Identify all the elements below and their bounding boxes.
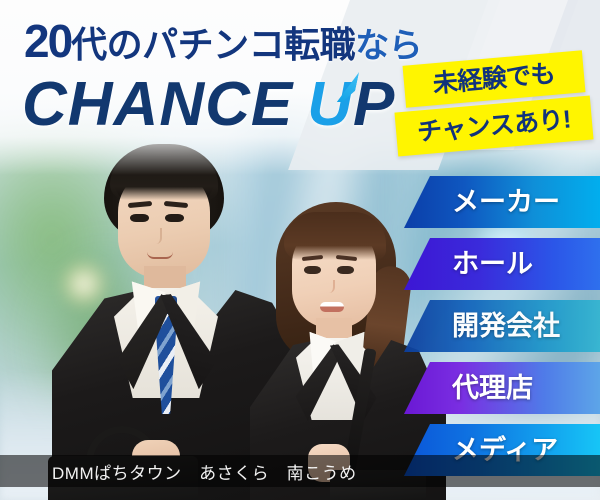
people-photo bbox=[0, 140, 420, 500]
headline-number: 20 bbox=[24, 15, 71, 67]
caption-bar: DMMぱちタウン あさくら 南こうめ bbox=[0, 455, 600, 487]
female-eye-right-icon bbox=[337, 266, 354, 274]
female-mouth-icon bbox=[320, 302, 344, 312]
logo-word-chance: CHANCE bbox=[22, 70, 293, 139]
headline-main: 代のパチンコ転職 bbox=[71, 24, 355, 65]
caption-text: DMMぱちタウン あさくら 南こうめ bbox=[52, 459, 357, 484]
category-label: ホール bbox=[452, 251, 533, 278]
category-button-development-company[interactable]: 開発会社 bbox=[404, 300, 600, 352]
banner-root: 20代のパチンコ転職なら CHANCEUP 未経験でも チャンスあり! メーカー… bbox=[0, 0, 600, 500]
chance-up-logo: CHANCEUP bbox=[22, 74, 395, 136]
category-label: 代理店 bbox=[452, 375, 533, 402]
logo-letter-u: U bbox=[307, 74, 353, 136]
male-mouth-icon bbox=[147, 252, 173, 259]
category-label: メーカー bbox=[452, 189, 560, 216]
category-label: 開発会社 bbox=[452, 313, 560, 340]
category-button-hall[interactable]: ホール bbox=[404, 238, 600, 290]
logo-letter-p: P bbox=[353, 70, 395, 139]
category-button-maker[interactable]: メーカー bbox=[404, 176, 600, 228]
headline: 20代のパチンコ転職なら bbox=[24, 18, 422, 67]
male-eye-left-icon bbox=[130, 214, 149, 222]
female-bangs-icon bbox=[284, 212, 386, 260]
male-nose-icon bbox=[154, 228, 162, 244]
female-eye-left-icon bbox=[304, 266, 321, 274]
male-eye-right-icon bbox=[165, 214, 184, 222]
category-list: メーカー ホール 開発会社 代理店 メディア bbox=[404, 176, 600, 486]
promo-badge: 未経験でも チャンスあり! bbox=[396, 56, 596, 160]
category-button-agency[interactable]: 代理店 bbox=[404, 362, 600, 414]
